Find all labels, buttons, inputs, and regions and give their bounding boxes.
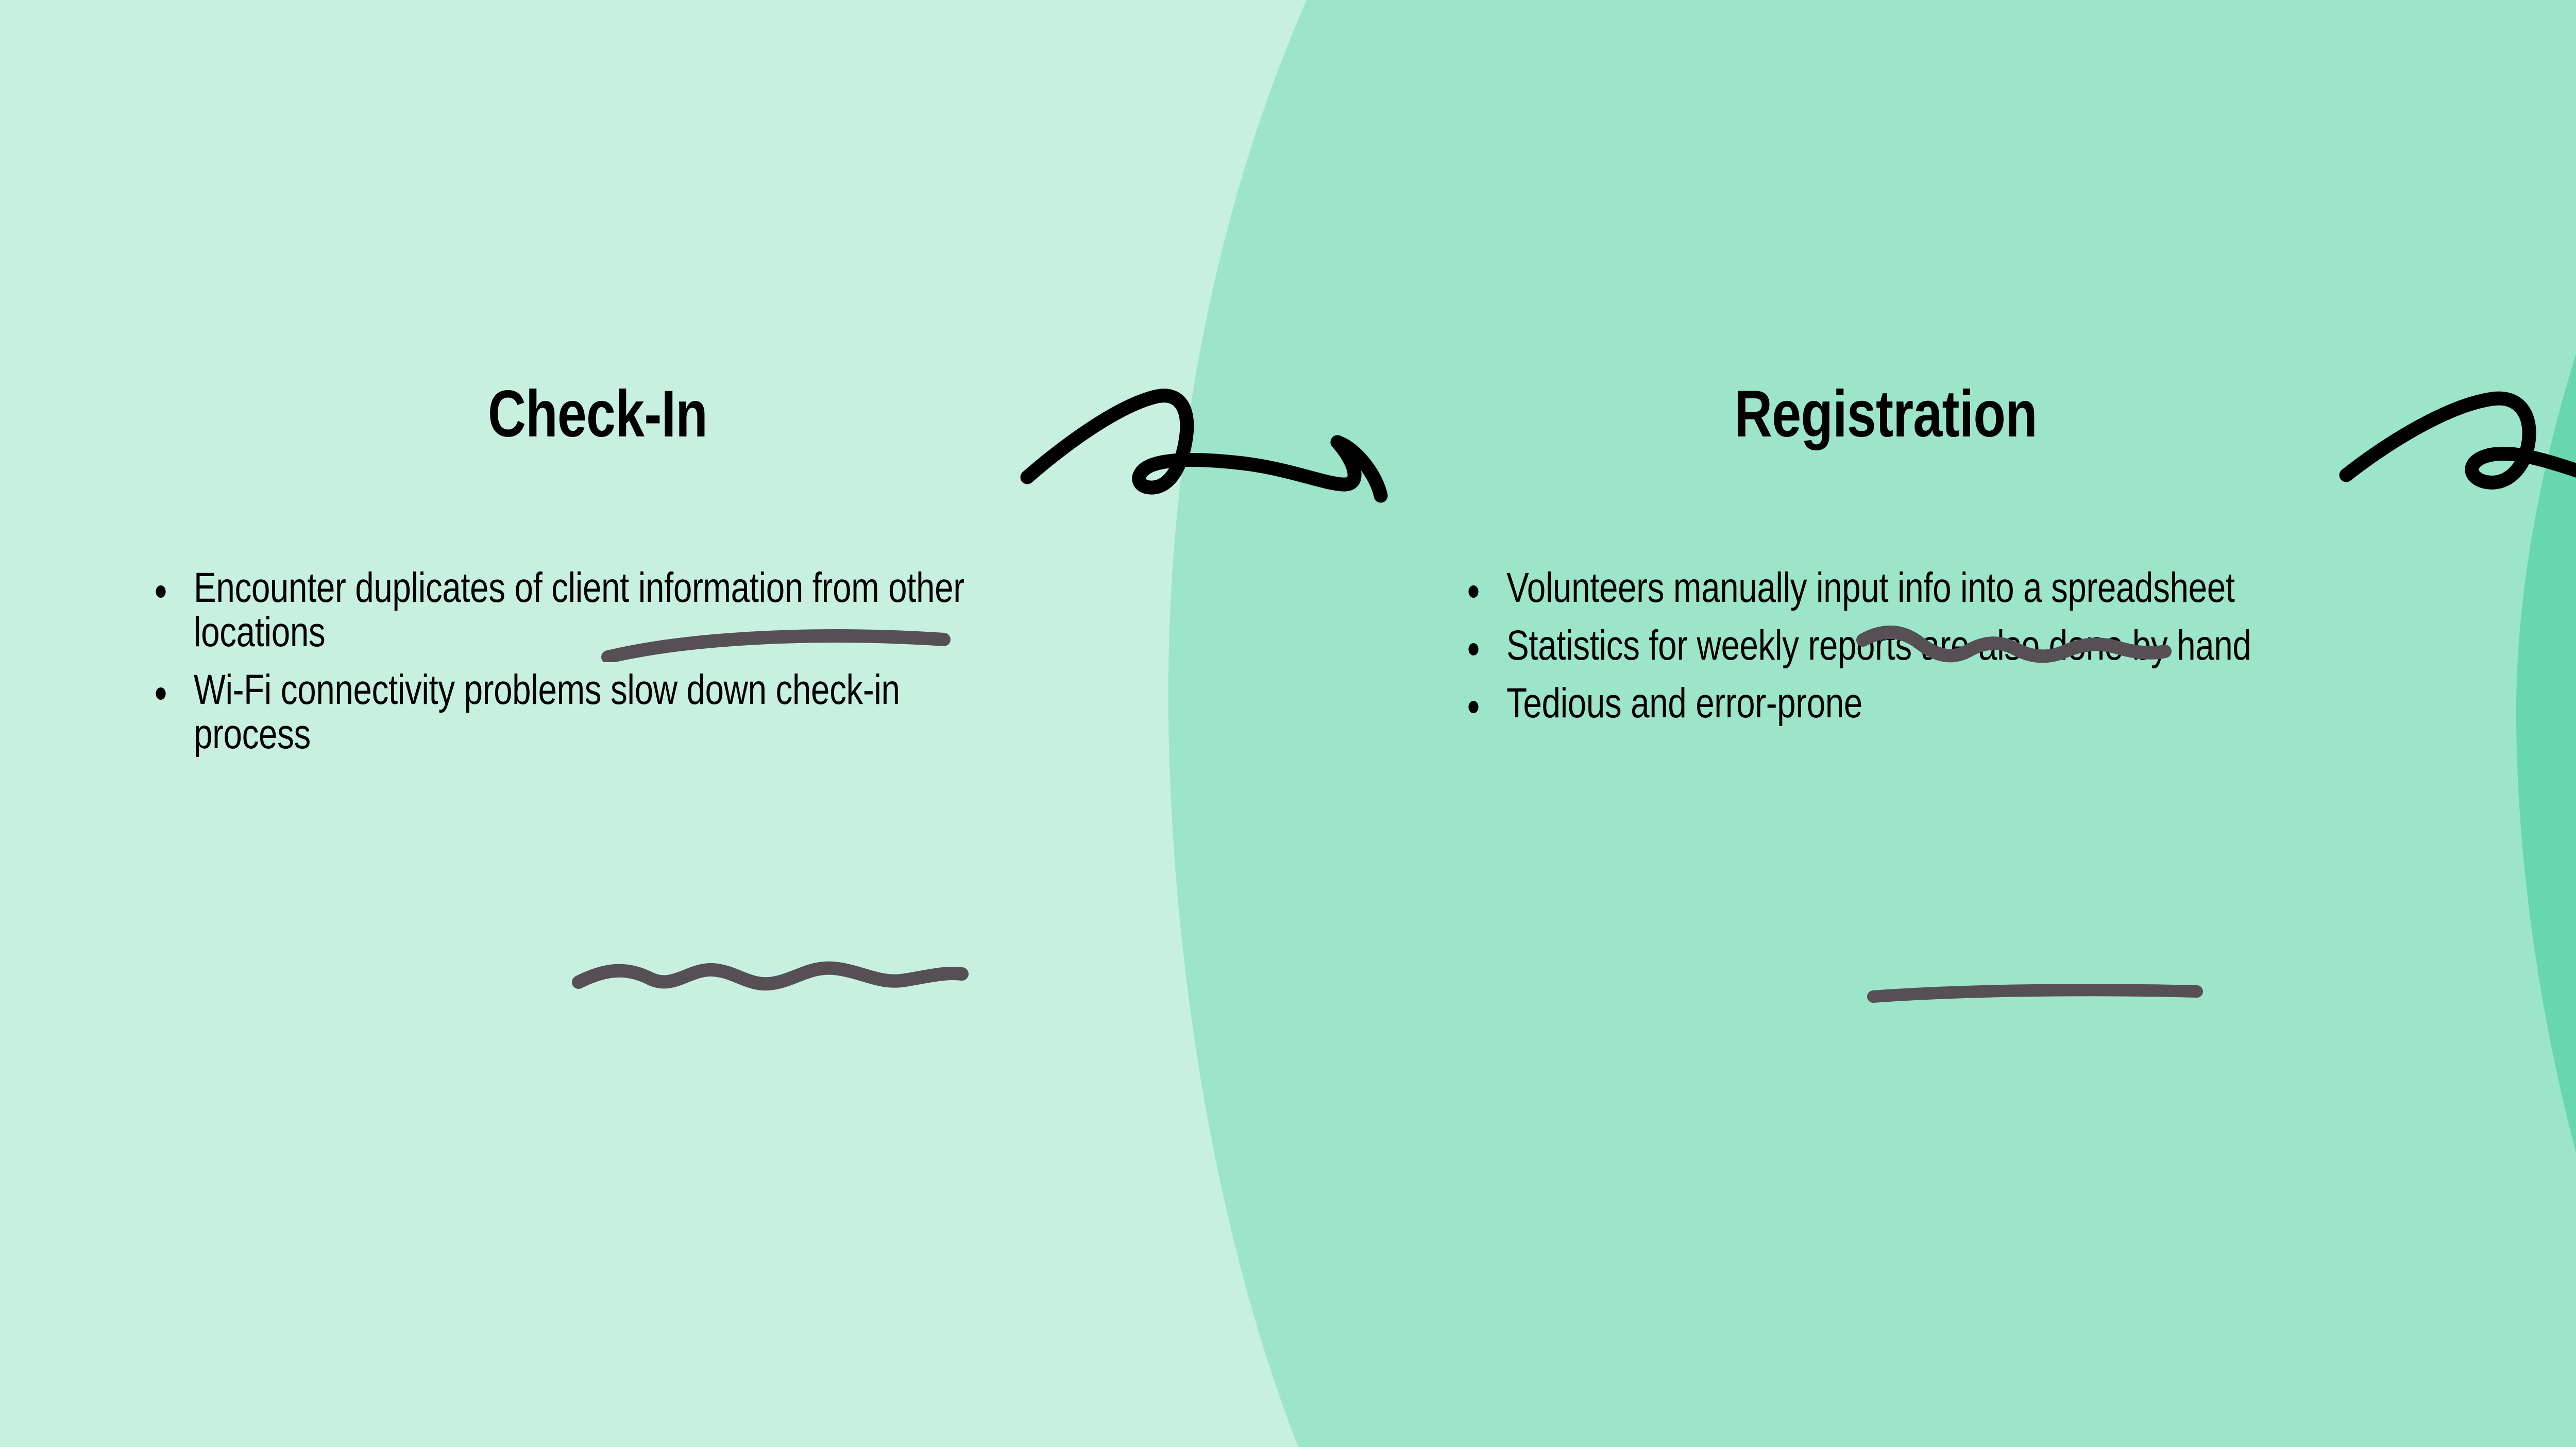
column-check-in: Check-In Encounter duplicates of client …	[93, 0, 1103, 1447]
list-item: Encounter duplicates of client informati…	[144, 566, 977, 654]
bullet-list-check-in: Encounter duplicates of client informati…	[144, 566, 927, 756]
column-title-check-in: Check-In	[194, 381, 1002, 447]
bullet-dot-icon	[1468, 701, 1478, 713]
bullet-dot-icon	[156, 585, 165, 598]
bullet-dot-icon	[156, 687, 165, 700]
bullet-dot-icon	[1468, 585, 1478, 598]
slide-canvas: Check-In Encounter duplicates of client …	[0, 0, 2576, 1447]
list-item: Wi-Fi connectivity problems slow down ch…	[144, 668, 977, 756]
column-registration: Registration Volunteers manually input i…	[1381, 0, 2391, 1447]
list-item-text: Volunteers manually input info into a sp…	[1506, 564, 2235, 611]
list-item-text: Statistics for weekly reports are also d…	[1506, 622, 2251, 669]
list-item-text: Encounter duplicates of client informati…	[194, 564, 964, 655]
list-item-text: Wi-Fi connectivity problems slow down ch…	[194, 666, 900, 758]
list-item: Statistics for weekly reports are also d…	[1457, 624, 2351, 668]
bullet-list-registration: Volunteers manually input info into a sp…	[1457, 566, 2302, 726]
list-item: Tedious and error-prone	[1457, 681, 2351, 726]
bullet-dot-icon	[1468, 643, 1478, 655]
list-item-text: Tedious and error-prone	[1506, 680, 1862, 727]
column-title-registration: Registration	[1482, 381, 2290, 447]
list-item: Volunteers manually input info into a sp…	[1457, 566, 2351, 610]
